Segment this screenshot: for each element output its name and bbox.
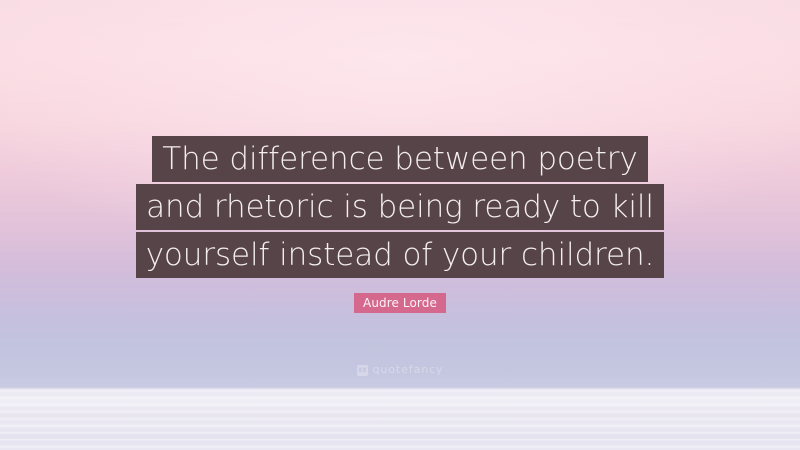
author-attribution: Audre Lorde <box>0 293 800 313</box>
quote-poster: The difference between poetry and rhetor… <box>0 0 800 450</box>
quote-line: and rhetoric is being ready to kill <box>136 184 664 230</box>
quote-mark-icon <box>357 365 368 376</box>
watermark: quotefancy <box>0 364 800 376</box>
quote-text-block: The difference between poetry and rhetor… <box>0 136 800 280</box>
watermark-label: quotefancy <box>373 364 444 376</box>
quote-line: The difference between poetry <box>152 136 647 182</box>
quote-line: yourself instead of your children. <box>136 232 665 278</box>
water-streaks <box>0 390 800 450</box>
author-name-badge: Audre Lorde <box>354 293 446 313</box>
